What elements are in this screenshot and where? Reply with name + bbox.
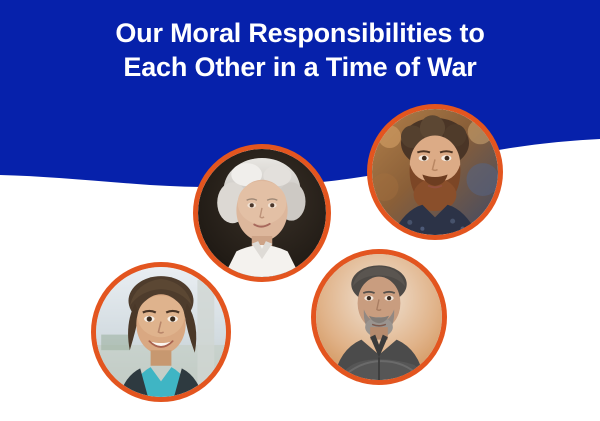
portrait-bottom-right xyxy=(311,249,447,385)
portrait-photo xyxy=(198,149,326,277)
portrait-photo xyxy=(372,109,498,235)
portrait-top-right xyxy=(367,104,503,240)
portrait-photo xyxy=(316,254,442,380)
portrait-photo xyxy=(96,267,226,397)
portrait-top-left xyxy=(193,144,331,282)
event-promo-banner: Our Moral Responsibilities to Each Other… xyxy=(0,0,600,421)
portrait-bottom-left xyxy=(91,262,231,402)
